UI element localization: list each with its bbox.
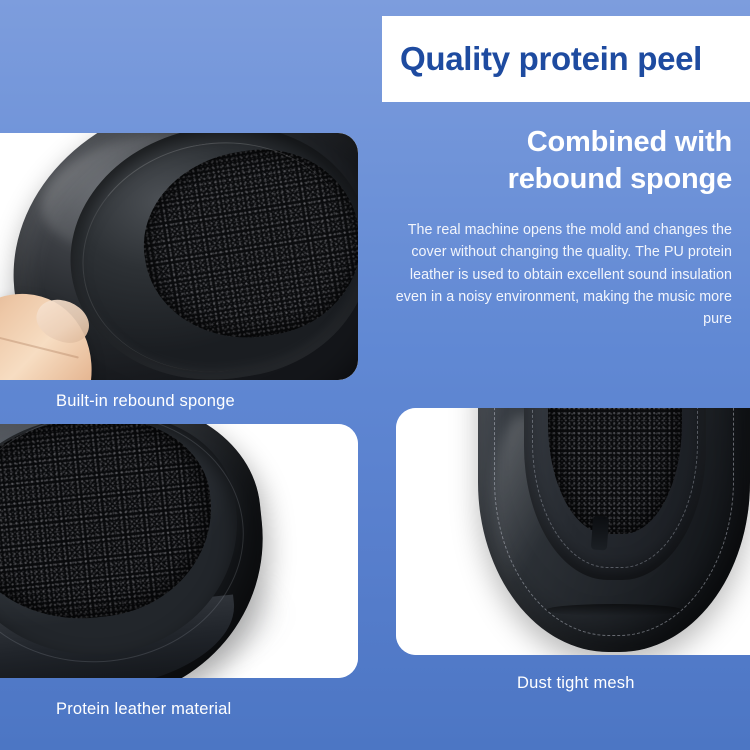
caption-bottom-left: Protein leather material xyxy=(56,700,231,719)
earpad-notch xyxy=(591,515,609,550)
earpad-bottom-seam xyxy=(546,604,682,616)
photo-panel-bottom-right xyxy=(396,408,750,655)
photo-panel-bottom-left xyxy=(0,424,358,678)
photo-panel-top-left xyxy=(0,133,358,380)
earpad-photo-protein-leather xyxy=(0,424,358,678)
feature-body-text: The real machine opens the mold and chan… xyxy=(388,219,732,330)
feature-subheading-line-1: Combined with xyxy=(388,124,732,161)
feature-text-column: Combined with rebound sponge The real ma… xyxy=(388,124,732,331)
feature-subheading: Combined with rebound sponge xyxy=(388,124,732,197)
title-banner: Quality protein peel xyxy=(382,16,750,102)
caption-bottom-right: Dust tight mesh xyxy=(517,674,635,693)
earpad-photo-dust-mesh xyxy=(396,408,750,655)
caption-top-left: Built-in rebound sponge xyxy=(56,392,235,411)
page-title: Quality protein peel xyxy=(382,40,702,78)
feature-subheading-line-2: rebound sponge xyxy=(388,161,732,198)
earpad-photo-rebound-sponge xyxy=(0,133,358,380)
